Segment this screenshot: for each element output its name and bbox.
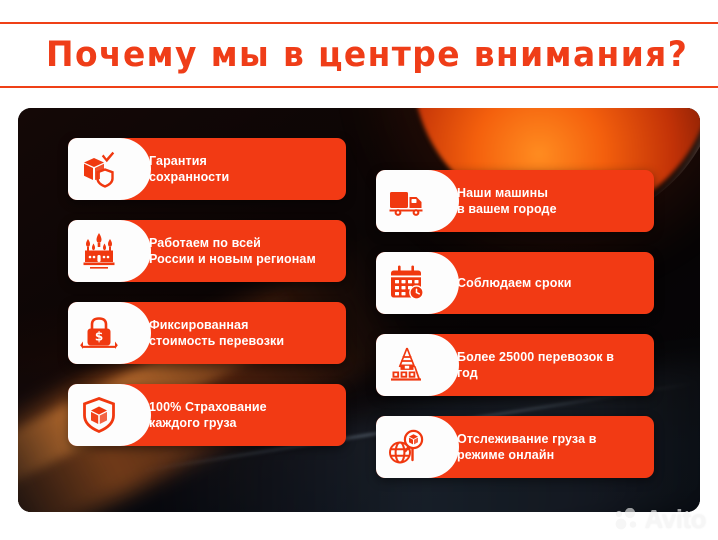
label-line: сохранности <box>149 169 229 186</box>
header: Почему мы в центре внимания? <box>0 22 718 88</box>
feature-label: Отслеживание груза в режиме онлайн <box>440 431 609 464</box>
feature-card-insurance[interactable]: 100% Страхование каждого груза <box>68 384 346 446</box>
kremlin-cathedral-icon <box>79 231 119 271</box>
features-panel: Гарантия сохранности <box>18 108 700 512</box>
feature-card-fleet[interactable]: Наши машины в вашем городе <box>376 170 654 232</box>
header-rule-bottom <box>0 86 718 88</box>
feature-label: Наши машины в вашем городе <box>440 185 569 218</box>
label-line: Работаем по всей <box>149 235 316 252</box>
feature-card-fixed-price[interactable]: $ Фиксированная стоимость перевозки <box>68 302 346 364</box>
label-line: 100% Страхование <box>149 399 267 416</box>
icon-pad: $ <box>68 302 132 364</box>
label-line: Соблюдаем сроки <box>457 275 572 292</box>
label-line: в вашем городе <box>457 201 557 218</box>
icon-pad <box>376 416 440 478</box>
feature-card-deadlines[interactable]: Соблюдаем сроки <box>376 252 654 314</box>
globe-search-box-icon <box>387 427 427 467</box>
icon-pad <box>376 170 440 232</box>
label-line: год <box>457 365 614 382</box>
feature-card-guarantee[interactable]: Гарантия сохранности <box>68 138 346 200</box>
calendar-clock-icon <box>387 263 427 303</box>
label-line: Отслеживание груза в <box>457 431 597 448</box>
feature-card-coverage[interactable]: Работаем по всей России и новым регионам <box>68 220 346 282</box>
svg-text:$: $ <box>95 330 103 344</box>
label-line: Наши машины <box>457 185 557 202</box>
feature-label: Гарантия сохранности <box>132 153 241 186</box>
feature-label: Фиксированная стоимость перевозки <box>132 317 296 350</box>
shield-cube-icon <box>79 395 119 435</box>
label-line: Гарантия <box>149 153 229 170</box>
delivery-truck-icon <box>387 181 427 221</box>
icon-pad <box>68 138 132 200</box>
feature-label: Работаем по всей России и новым регионам <box>132 235 328 268</box>
label-line: России и новым регионам <box>149 251 316 268</box>
box-shield-check-icon <box>79 149 119 189</box>
icon-pad <box>68 384 132 446</box>
label-line: каждого груза <box>149 415 267 432</box>
label-line: стоимость перевозки <box>149 333 284 350</box>
avito-watermark: Avito <box>614 506 706 532</box>
icon-pad <box>68 220 132 282</box>
slide-root: Почему мы в центре внимания? <box>0 0 718 540</box>
header-rule-top <box>0 22 718 24</box>
icon-pad <box>376 334 440 396</box>
feature-label: Более 25000 перевозок в год <box>440 349 626 382</box>
feature-label: Соблюдаем сроки <box>440 275 584 292</box>
feature-card-tracking[interactable]: Отслеживание груза в режиме онлайн <box>376 416 654 478</box>
feature-label: 100% Страхование каждого груза <box>132 399 279 432</box>
crane-cargo-icon <box>387 345 427 385</box>
label-line: Более 25000 перевозок в <box>457 349 614 366</box>
icon-pad <box>376 252 440 314</box>
label-line: Фиксированная <box>149 317 284 334</box>
feature-card-volume[interactable]: Более 25000 перевозок в год <box>376 334 654 396</box>
avito-wordmark: Avito <box>644 506 706 532</box>
label-line: режиме онлайн <box>457 447 597 464</box>
page-title: Почему мы в центре внимания? <box>46 30 648 80</box>
avito-dots-icon <box>614 508 640 530</box>
padlock-dollar-icon: $ <box>79 313 119 353</box>
